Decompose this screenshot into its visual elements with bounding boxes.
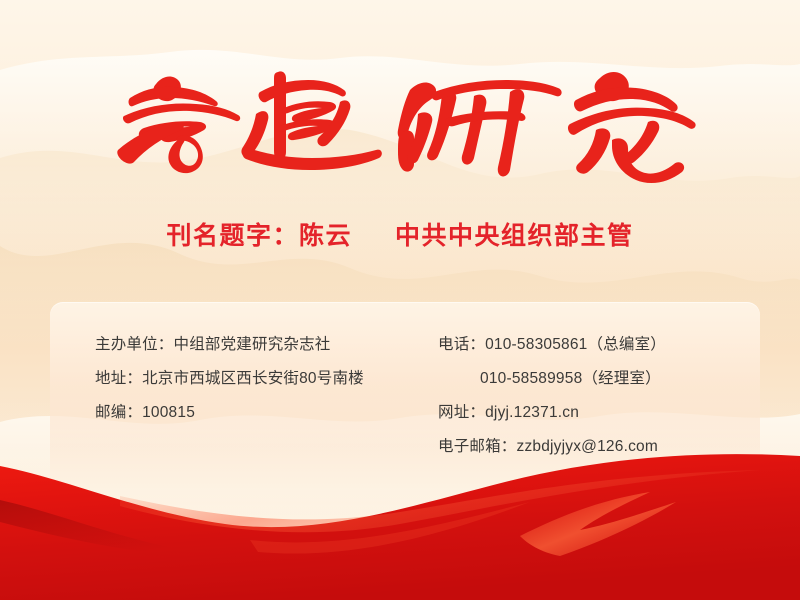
info-line-phone-manager: 010-58589958（经理室） [438,362,760,396]
subtitle-inscription: 刊名题字：陈云 [167,222,353,250]
info-line-address: 地址：北京市西城区西长安街80号南楼 [95,362,380,396]
info-line-publisher: 主办单位：中组部党建研究杂志社 [95,328,380,362]
subtitle: 刊名题字：陈云 中共中央组织部主管 [0,216,800,252]
magazine-cover: 党建研究 [0,0,800,600]
masthead: 党建研究 [0,56,800,186]
info-line-phone-editorial: 电话：010-58305861（总编室） [438,328,760,362]
red-silk-ribbon-icon [0,440,800,600]
info-line-website: 网址：djyj.12371.cn [438,396,760,430]
title-calligraphy-icon [100,56,700,186]
info-line-postcode: 邮编：100815 [95,396,380,430]
subtitle-authority: 中共中央组织部主管 [395,222,634,250]
